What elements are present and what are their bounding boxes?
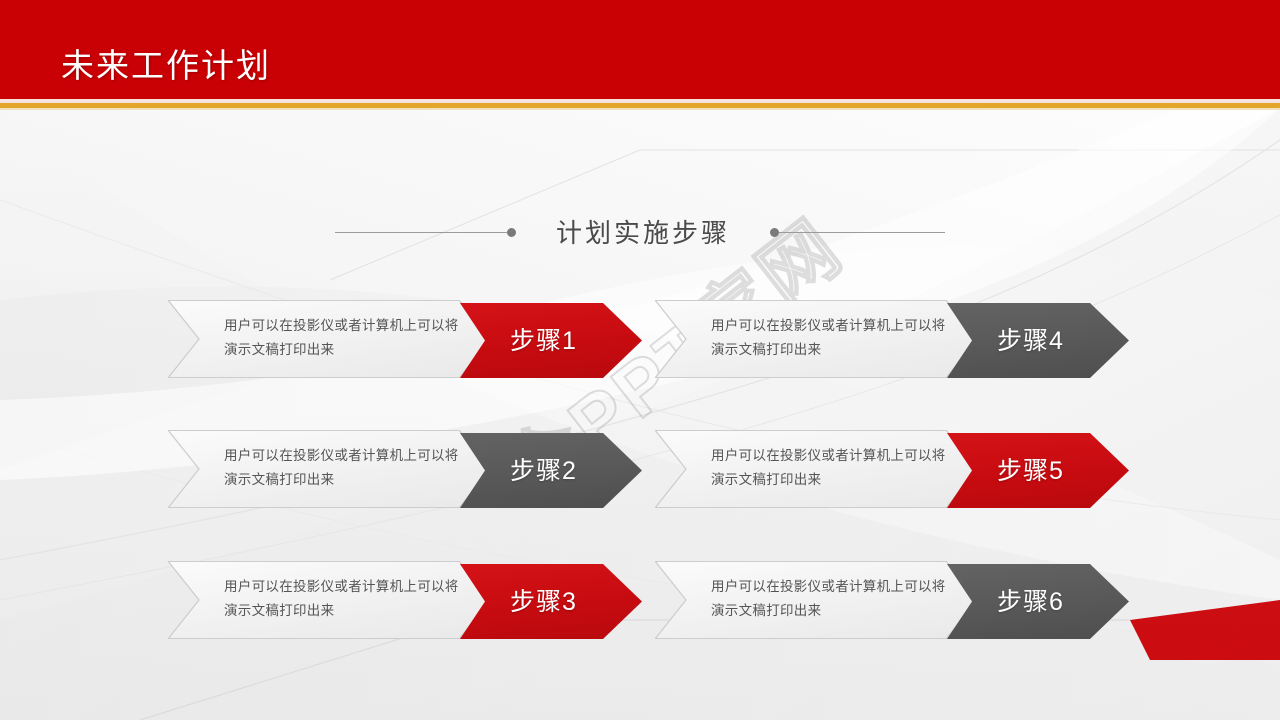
step-row: 用户可以在投影仪或者计算机上可以将演示文稿打印出来 步骤2 用户可以在投影仪或者… (0, 430, 1280, 508)
step-tag-label: 步骤5 (997, 456, 1064, 486)
step-tag[interactable]: 步骤3 (460, 564, 642, 639)
step-description: 用户可以在投影仪或者计算机上可以将演示文稿打印出来 (711, 314, 951, 362)
step-row: 用户可以在投影仪或者计算机上可以将演示文稿打印出来 步骤1 用户可以在投影仪或者… (0, 300, 1280, 378)
step-item-6[interactable]: 用户可以在投影仪或者计算机上可以将演示文稿打印出来 步骤6 (655, 561, 1125, 639)
step-tag[interactable]: 步骤4 (947, 303, 1129, 378)
step-item-5[interactable]: 用户可以在投影仪或者计算机上可以将演示文稿打印出来 步骤5 (655, 430, 1125, 508)
step-description: 用户可以在投影仪或者计算机上可以将演示文稿打印出来 (711, 444, 951, 492)
step-item-1[interactable]: 用户可以在投影仪或者计算机上可以将演示文稿打印出来 步骤1 (168, 300, 638, 378)
step-description: 用户可以在投影仪或者计算机上可以将演示文稿打印出来 (224, 314, 464, 362)
step-tag[interactable]: 步骤2 (460, 433, 642, 508)
step-tag-label: 步骤6 (997, 587, 1064, 617)
step-tag[interactable]: 步骤6 (947, 564, 1129, 639)
step-tag[interactable]: 步骤5 (947, 433, 1129, 508)
step-description: 用户可以在投影仪或者计算机上可以将演示文稿打印出来 (711, 575, 951, 623)
step-tag-label: 步骤3 (510, 587, 577, 617)
step-tag-label: 步骤2 (510, 456, 577, 486)
steps-container: 用户可以在投影仪或者计算机上可以将演示文稿打印出来 步骤1 用户可以在投影仪或者… (0, 0, 1280, 720)
step-item-2[interactable]: 用户可以在投影仪或者计算机上可以将演示文稿打印出来 步骤2 (168, 430, 638, 508)
step-item-3[interactable]: 用户可以在投影仪或者计算机上可以将演示文稿打印出来 步骤3 (168, 561, 638, 639)
step-tag[interactable]: 步骤1 (460, 303, 642, 378)
step-description: 用户可以在投影仪或者计算机上可以将演示文稿打印出来 (224, 444, 464, 492)
step-item-4[interactable]: 用户可以在投影仪或者计算机上可以将演示文稿打印出来 步骤4 (655, 300, 1125, 378)
step-tag-label: 步骤4 (997, 326, 1064, 356)
step-description: 用户可以在投影仪或者计算机上可以将演示文稿打印出来 (224, 575, 464, 623)
step-row: 用户可以在投影仪或者计算机上可以将演示文稿打印出来 步骤3 用户可以在投影仪或者… (0, 561, 1280, 639)
step-tag-label: 步骤1 (510, 326, 577, 356)
